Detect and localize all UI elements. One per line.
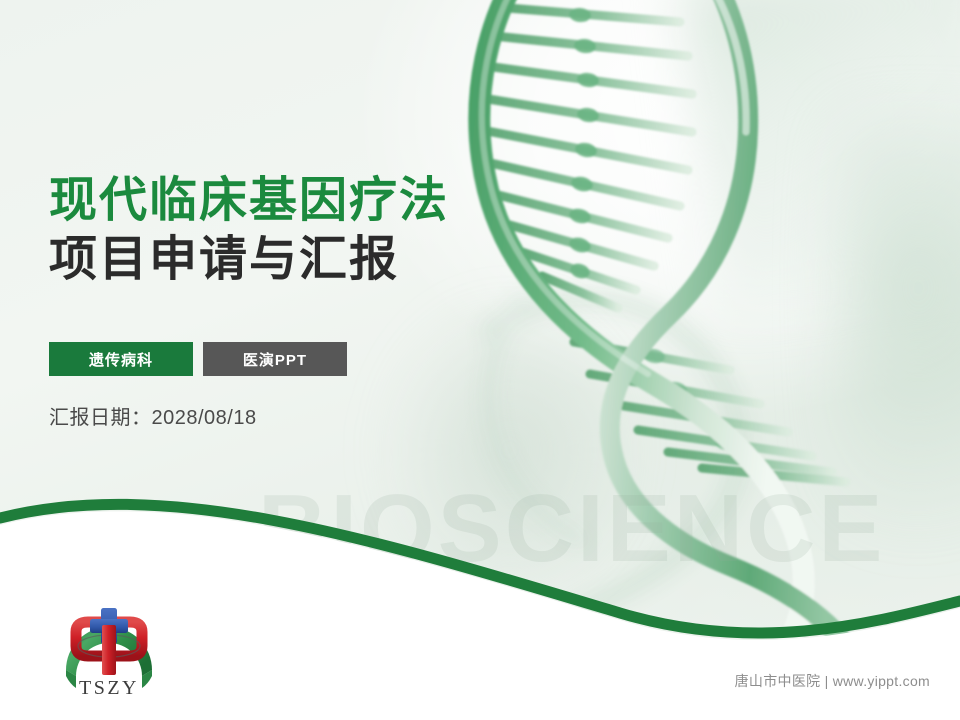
badge-group: 遗传病科 医演PPT: [49, 342, 347, 376]
report-date-label: 汇报日期：2028/08/18: [49, 401, 257, 430]
slide-title: 现代临床基因疗法 项目申请与汇报: [49, 172, 569, 289]
presentation-cover-slide: BIOSCIENCE 现代临床基因疗法 项目申请与汇报 遗传病科 医演PPT 汇…: [0, 0, 960, 720]
badge-template-brand[interactable]: 医演PPT: [203, 342, 347, 376]
footer-credit: 唐山市中医院 | www.yippt.com: [735, 671, 930, 691]
title-line-secondary: 项目申请与汇报: [49, 231, 569, 290]
badge-department[interactable]: 遗传病科: [49, 342, 193, 376]
logo-monogram-text: TSZY: [79, 677, 139, 699]
hospital-logo: TSZY: [46, 584, 172, 702]
title-line-primary: 现代临床基因疗法: [49, 172, 569, 231]
